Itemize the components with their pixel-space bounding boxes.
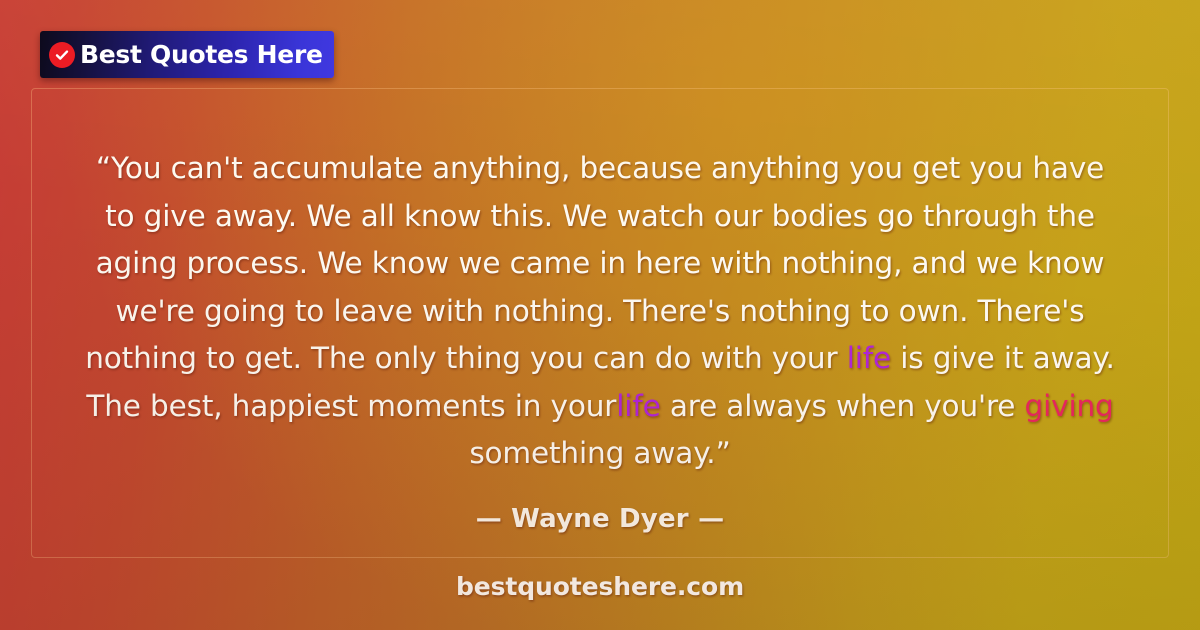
footer-url: bestquoteshere.com — [0, 572, 1200, 601]
brand-badge[interactable]: Best Quotes Here — [40, 31, 334, 78]
quote-content: “You can't accumulate anything, because … — [80, 145, 1120, 534]
quote-card: Best Quotes Here “You can't accumulate a… — [0, 0, 1200, 630]
check-circle-icon — [49, 42, 75, 68]
quote-text: “You can't accumulate anything, because … — [80, 145, 1120, 478]
quote-attribution: — Wayne Dyer — — [80, 504, 1120, 534]
brand-name: Best Quotes Here — [80, 42, 323, 67]
quote-highlight-life: life — [847, 341, 891, 375]
quote-highlight-giving: giving — [1025, 389, 1114, 423]
quote-highlight-life: life — [616, 389, 660, 423]
